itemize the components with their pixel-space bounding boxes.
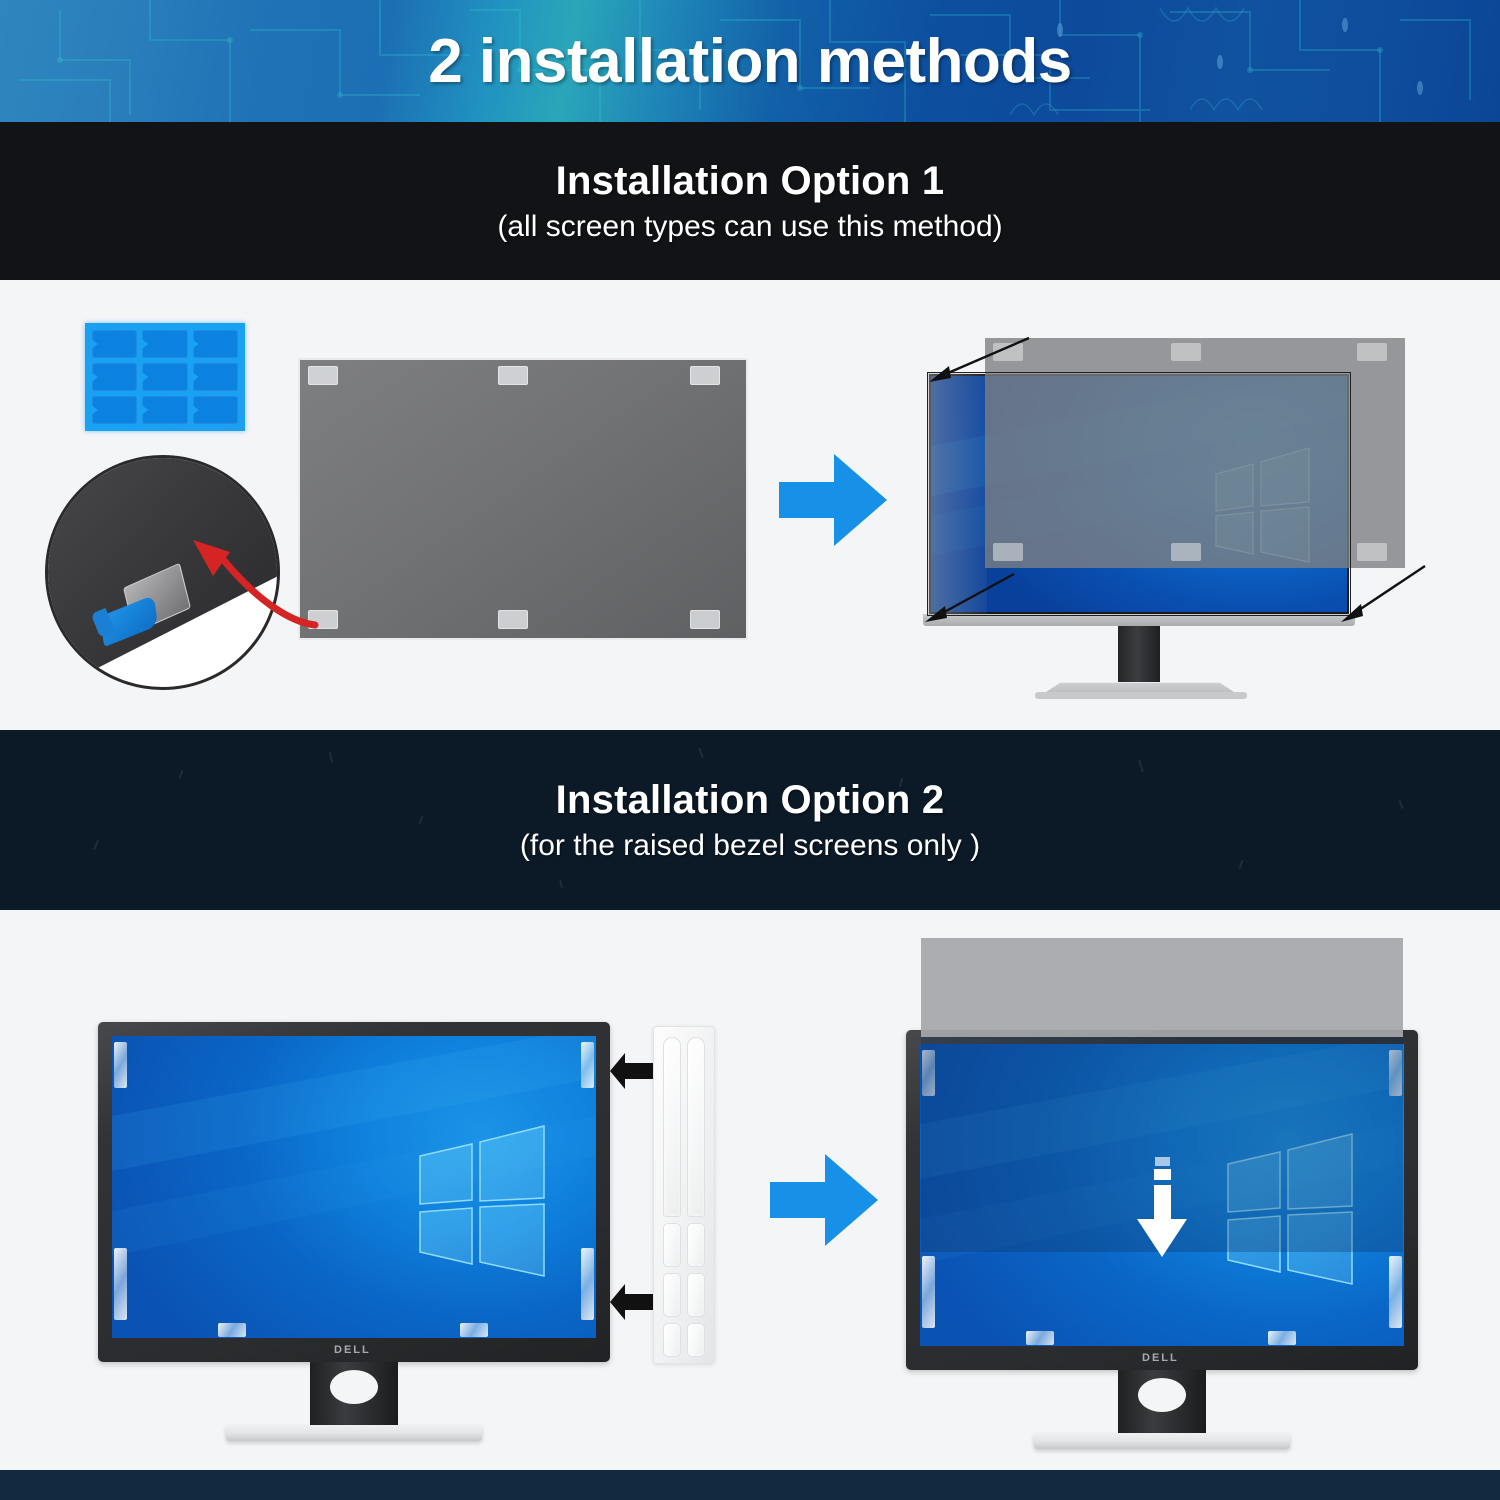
windows-wallpaper (112, 1036, 596, 1338)
monitor-base (226, 1425, 482, 1441)
dell-brand-label: DELL (1142, 1352, 1179, 1364)
mounting-strip (114, 1248, 127, 1320)
cable-hole (1138, 1378, 1186, 1412)
filter-tab (308, 366, 338, 385)
mounting-strip (460, 1323, 488, 1337)
mounting-strip (922, 1256, 935, 1328)
infographic-page: 2 installation methods Installation Opti… (0, 0, 1500, 1500)
adhesive-tab (142, 396, 187, 424)
mounting-strip (1268, 1331, 1296, 1345)
adhesive-tab (142, 330, 187, 358)
blue-right-arrow-icon-1 (779, 452, 889, 548)
alignment-arrow-top-icon (921, 332, 1036, 387)
short-strip-cut (663, 1223, 681, 1267)
filter-tab (1171, 343, 1201, 361)
mounting-strip (218, 1323, 246, 1337)
long-strip-cut (663, 1037, 681, 1217)
adhesive-tab (142, 363, 187, 391)
mounting-strip (1389, 1256, 1402, 1328)
filter-tab (1171, 543, 1201, 561)
adhesive-tab (193, 330, 238, 358)
mounting-strip (581, 1042, 594, 1088)
dell-monitor-left: DELL (98, 1022, 628, 1442)
monitor-base-edge (1035, 692, 1247, 699)
slim-monitor-assembly (905, 318, 1405, 718)
adhesive-tab (193, 396, 238, 424)
page-title: 2 installation methods (0, 0, 1500, 122)
option2-subtitle: (for the raised bezel screens only ) (520, 829, 980, 863)
short-strip-cut (687, 1323, 705, 1357)
adhesive-tab (92, 396, 137, 424)
black-left-arrow-icon-top (609, 1052, 655, 1090)
filter-tab (690, 366, 720, 385)
footer-strip (0, 1470, 1500, 1500)
option1-banner: Installation Option 1 (all screen types … (0, 122, 1500, 280)
filter-tab (498, 366, 528, 385)
mounting-strip (581, 1248, 594, 1320)
monitor-screen (112, 1036, 596, 1338)
adhesive-tab (193, 363, 238, 391)
adhesive-tab (92, 330, 137, 358)
red-curved-arrow-icon (155, 530, 325, 640)
long-strip-cut (687, 1037, 705, 1217)
privacy-filter-panel (298, 358, 748, 640)
mounting-strip-sheet (653, 1026, 715, 1364)
option2-title: Installation Option 2 (556, 778, 945, 823)
monitor-base (1034, 1433, 1290, 1449)
short-strip-cut (663, 1323, 681, 1357)
adhesive-tab-sheet (85, 323, 245, 431)
header-banner: 2 installation methods (0, 0, 1500, 122)
privacy-filter-overlay (985, 338, 1405, 568)
filter-tab (498, 610, 528, 629)
alignment-arrow-bottom-right-icon (1325, 558, 1435, 628)
sliding-privacy-filter (921, 938, 1403, 1037)
filter-tab (690, 610, 720, 629)
option1-title: Installation Option 1 (556, 159, 945, 204)
short-strip-cut (687, 1223, 705, 1267)
alignment-arrow-bottom-left-icon (919, 568, 1029, 626)
filter-tab (993, 543, 1023, 561)
mounting-strip (114, 1042, 127, 1088)
option2-banner: Installation Option 2 (for the raised be… (0, 730, 1500, 910)
white-down-arrow-icon (1133, 1157, 1191, 1265)
mounting-strip (1026, 1331, 1054, 1345)
adhesive-tab (92, 363, 137, 391)
blue-right-arrow-icon-2 (770, 1152, 880, 1248)
monitor-neck (1118, 626, 1160, 682)
dell-brand-label: DELL (334, 1344, 371, 1356)
short-strip-cut (663, 1273, 681, 1317)
filter-tab (1357, 343, 1387, 361)
option1-subtitle: (all screen types can use this method) (497, 210, 1002, 244)
cable-hole (330, 1370, 378, 1404)
short-strip-cut (687, 1273, 705, 1317)
black-left-arrow-icon-bottom (609, 1283, 655, 1321)
